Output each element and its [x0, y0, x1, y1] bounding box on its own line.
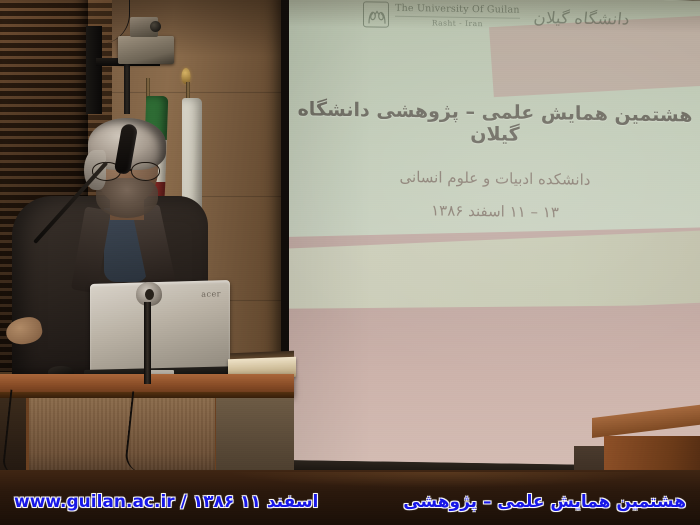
laptop-brand-logo: acer — [201, 289, 221, 299]
caption-event-title: هشتمین همایش علمی – پژوهشی — [403, 492, 686, 512]
camera-mount-post — [124, 62, 130, 114]
screenshot-root: The University Of Guilan Rasht - Iran دا… — [0, 0, 700, 525]
camera-mount-bracket — [86, 26, 102, 114]
slide-title: هشتمین همایش علمی – پژوهشی دانشگاه گیلان — [289, 98, 700, 148]
microphone-stand-pole — [144, 302, 151, 384]
camera-body — [118, 36, 174, 64]
podium-table-front-panel-right — [216, 398, 294, 476]
university-logo-lockup: The University Of Guilan Rasht - Iran — [363, 1, 520, 29]
caption-bar: www.guilan.ac.ir / ۱۳۸۶ اسفند ۱۱ هشتمین … — [0, 479, 700, 525]
projection-screen: The University Of Guilan Rasht - Iran دا… — [281, 0, 700, 483]
camera-lens-icon — [150, 21, 161, 32]
slide-location-en: Rasht - Iran — [395, 17, 520, 29]
podium-microphone — [36, 240, 142, 390]
podium-table-front-panel — [24, 398, 220, 476]
caption-website-and-date: www.guilan.ac.ir / ۱۳۸۶ اسفند ۱۱ — [14, 492, 318, 512]
presenter-beard — [96, 178, 158, 218]
slide-institution-name-fa: دانشگاه گیلان — [532, 7, 630, 27]
guilan-university-logo-icon — [363, 1, 389, 27]
projection-screen-surface: The University Of Guilan Rasht - Iran دا… — [289, 0, 700, 467]
